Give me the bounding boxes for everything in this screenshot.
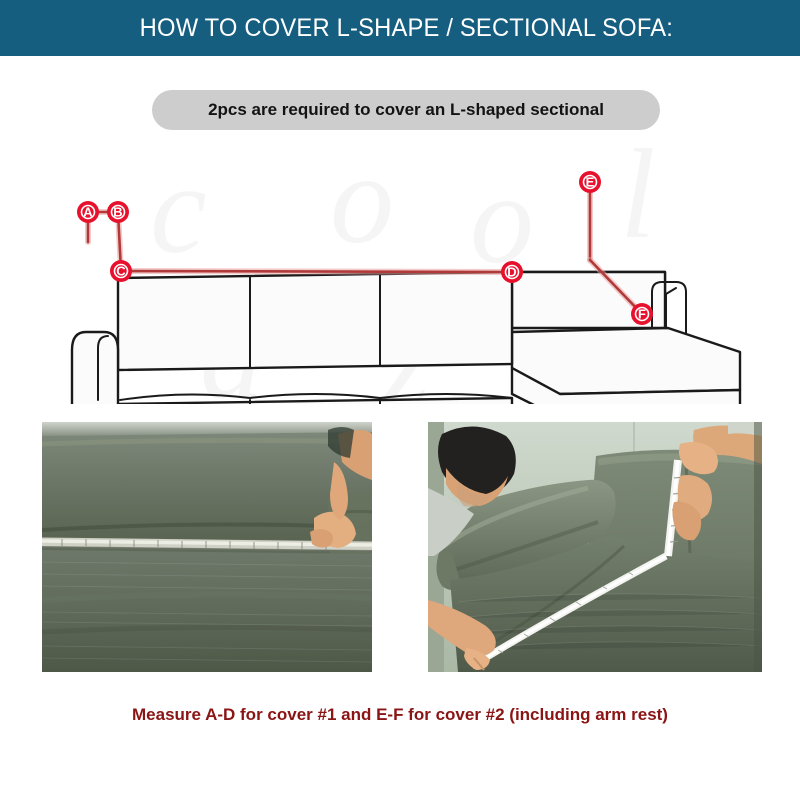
svg-text:C: C bbox=[116, 264, 126, 279]
svg-text:F: F bbox=[638, 307, 646, 322]
chaise-section bbox=[512, 272, 744, 404]
photo-measuring-sofa-length bbox=[428, 422, 762, 672]
svg-text:A: A bbox=[83, 205, 93, 220]
svg-text:o: o bbox=[330, 132, 394, 270]
subtitle-label: 2pcs are required to cover an L-shaped s… bbox=[208, 100, 604, 120]
svg-text:D: D bbox=[507, 265, 516, 280]
sofa-diagram: .ol { fill:#fbfbfb; stroke:#1a1a1a; stro… bbox=[0, 132, 800, 404]
bottom-caption: Measure A-D for cover #1 and E-F for cov… bbox=[0, 705, 800, 725]
marker-D: D bbox=[501, 261, 523, 283]
marker-E: E bbox=[579, 171, 601, 193]
instruction-graphic-page: HOW TO COVER L-SHAPE / SECTIONAL SOFA: 2… bbox=[0, 0, 800, 800]
svg-text:E: E bbox=[586, 175, 595, 190]
subtitle-pill: 2pcs are required to cover an L-shaped s… bbox=[152, 90, 660, 130]
marker-A: A bbox=[77, 201, 99, 223]
page-title: HOW TO COVER L-SHAPE / SECTIONAL SOFA: bbox=[127, 14, 674, 43]
marker-F: F bbox=[631, 303, 653, 325]
photo-measuring-seat-gap bbox=[42, 422, 372, 672]
marker-B: B bbox=[107, 201, 129, 223]
marker-C: C bbox=[110, 260, 132, 282]
svg-text:l: l bbox=[620, 132, 656, 265]
header-banner: HOW TO COVER L-SHAPE / SECTIONAL SOFA: bbox=[0, 0, 800, 56]
svg-text:B: B bbox=[113, 205, 122, 220]
main-sofa-section bbox=[72, 272, 512, 404]
svg-text:c: c bbox=[150, 138, 207, 280]
